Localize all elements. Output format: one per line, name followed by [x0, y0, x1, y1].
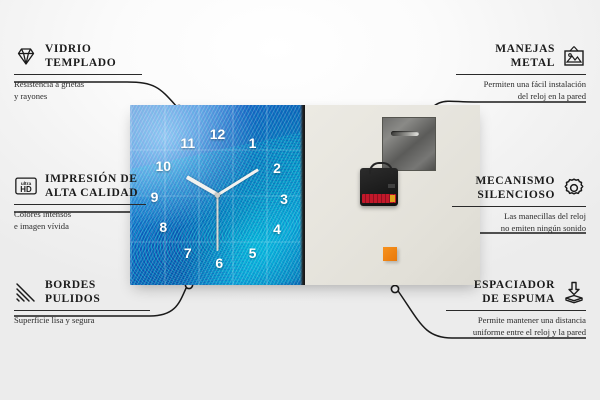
- clock-center-pin: [215, 193, 220, 198]
- ultra-hd-icon: ultra HD: [14, 174, 38, 198]
- infographic-canvas: 12 1 2 3 4 5 6 7 8 9 10 11: [0, 0, 600, 400]
- clock-front-panel: 12 1 2 3 4 5 6 7 8 9 10 11: [130, 105, 305, 285]
- clock-numeral-7: 7: [184, 246, 192, 260]
- callout-desc-2: uniforme entre el reloj y la pared: [446, 327, 586, 339]
- callout-title-2: PULIDOS: [45, 292, 100, 306]
- quartz-movement: [360, 168, 398, 206]
- clock-numeral-12: 12: [210, 127, 226, 141]
- callout-title-2: ALTA CALIDAD: [45, 186, 138, 200]
- clock-numeral-8: 8: [159, 220, 167, 234]
- callout-impresion-alta-calidad: ultra HD IMPRESIÓN DE ALTA CALIDAD Color…: [14, 172, 146, 232]
- diagonal-lines-icon: [14, 280, 38, 304]
- callout-espaciador-espuma: ESPACIADOR DE ESPUMA Permite mantener un…: [446, 278, 586, 338]
- callout-rule: [14, 204, 146, 205]
- down-arrow-stack-icon: [562, 280, 586, 304]
- clock-numeral-6: 6: [215, 256, 223, 270]
- callout-rule: [446, 310, 586, 311]
- callout-desc: Permite mantener una distancia: [446, 315, 586, 327]
- clock-numeral-4: 4: [273, 222, 281, 236]
- movement-chip: [388, 184, 395, 188]
- callout-rule: [456, 74, 586, 75]
- callout-desc-2: no emiten ningún sonido: [452, 223, 586, 235]
- callout-rule: [14, 74, 142, 75]
- clock-numeral-5: 5: [249, 246, 257, 260]
- clock-numeral-3: 3: [280, 192, 288, 206]
- callout-title-2: SILENCIOSO: [475, 188, 555, 202]
- callout-rule: [452, 206, 586, 207]
- clock-numeral-2: 2: [273, 161, 281, 175]
- callout-mecanismo-silencioso: MECANISMO SILENCIOSO Las manecillas del …: [452, 174, 586, 234]
- clock-second-hand: [217, 195, 219, 251]
- callout-vidrio-templado: VIDRIO TEMPLADO Resistencia a grietas y …: [14, 42, 142, 102]
- clock-numeral-1: 1: [249, 136, 257, 150]
- callout-title: MECANISMO: [475, 174, 555, 188]
- callout-title: BORDES: [45, 278, 100, 292]
- picture-frame-icon: [562, 44, 586, 68]
- callout-title: ESPACIADOR: [474, 278, 555, 292]
- clock-numeral-9: 9: [151, 190, 159, 204]
- callout-desc: Colores intensos: [14, 209, 146, 221]
- gear-icon: [562, 176, 586, 200]
- callout-rule: [14, 310, 150, 311]
- callout-title-2: METAL: [495, 56, 555, 70]
- foam-spacer: [383, 247, 397, 261]
- callout-desc: Permiten una fácil instalación: [456, 79, 586, 91]
- callout-desc-2: y rayones: [14, 91, 142, 103]
- callout-desc: Superficie lisa y segura: [14, 315, 150, 327]
- callout-desc: Resistencia a grietas: [14, 79, 142, 91]
- callout-title: VIDRIO: [45, 42, 116, 56]
- ultra-hd-icon-large-text: HD: [20, 185, 32, 194]
- product-photo: 12 1 2 3 4 5 6 7 8 9 10 11: [130, 105, 480, 285]
- movement-battery-label: [362, 194, 396, 203]
- callout-title: MANEJAS: [495, 42, 555, 56]
- callout-title-2: DE ESPUMA: [474, 292, 555, 306]
- diamond-icon: [14, 44, 38, 68]
- callout-desc: Las manecillas del reloj: [452, 211, 586, 223]
- connector-dot-espaciador: [391, 285, 398, 292]
- metal-hanger-plate: [382, 117, 436, 171]
- hanger-slot: [391, 131, 419, 136]
- clock-numeral-10: 10: [155, 159, 171, 173]
- callout-desc-2: del reloj en la pared: [456, 91, 586, 103]
- movement-hanger-loop: [369, 162, 393, 174]
- callout-title-2: TEMPLADO: [45, 56, 116, 70]
- callout-manejas-metal: MANEJAS METAL Permiten una fácil instala…: [456, 42, 586, 102]
- clock-numeral-11: 11: [180, 136, 195, 150]
- callout-bordes-pulidos: BORDES PULIDOS Superficie lisa y segura: [14, 278, 150, 327]
- callout-desc-2: e imagen vívida: [14, 221, 146, 233]
- callout-title: IMPRESIÓN DE: [45, 172, 138, 186]
